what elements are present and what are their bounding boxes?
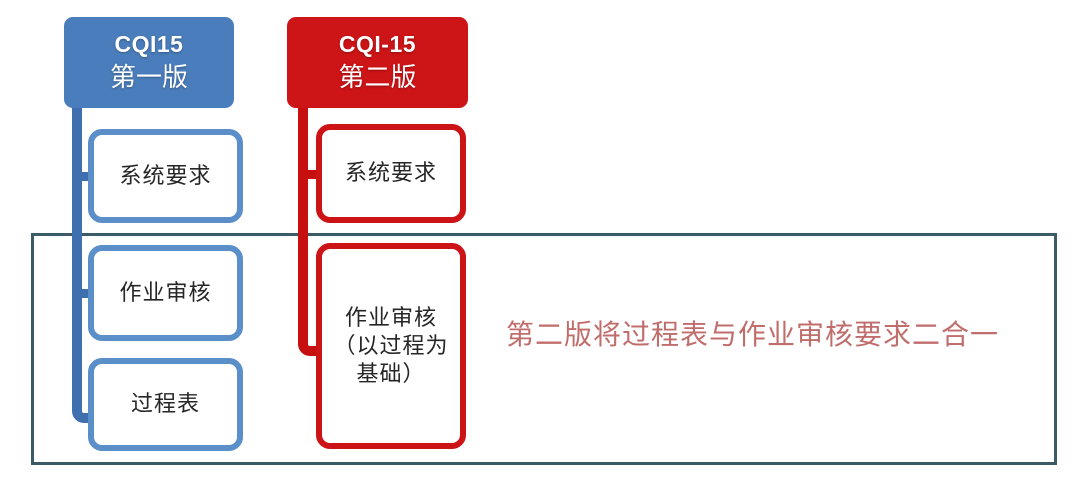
node-label-version-2-node-1: 系统要求 bbox=[345, 159, 437, 187]
node-label-version-1-node-2: 作业审核 bbox=[119, 279, 211, 307]
node-box-version-1-job-audit[interactable]: 作业审核 bbox=[88, 245, 243, 341]
merge-annotation-text: 第二版将过程表与作业审核要求二合一 bbox=[506, 313, 999, 353]
node-box-version-2-system-requirements[interactable]: 系统要求 bbox=[316, 124, 466, 223]
diagram-canvas: CQI15 第一版 系统要求 作业审核 过程表 CQI-15 第二版 系统要求 … bbox=[0, 0, 1080, 494]
node-label-version-1-node-1: 系统要求 bbox=[119, 162, 211, 190]
node-label-version-1-node-3: 过程表 bbox=[131, 390, 200, 418]
node-box-version-2-job-audit-process-based[interactable]: 作业审核（以过程为基础） bbox=[316, 243, 466, 449]
header-edition-version-2: 第二版 bbox=[338, 61, 416, 95]
header-box-version-2[interactable]: CQI-15 第二版 bbox=[287, 17, 468, 108]
header-code-version-2: CQI-15 bbox=[339, 30, 416, 59]
header-code-version-1: CQI15 bbox=[115, 30, 184, 59]
node-label-version-2-node-2: 作业审核（以过程为基础） bbox=[322, 304, 460, 388]
node-box-version-1-system-requirements[interactable]: 系统要求 bbox=[88, 129, 243, 223]
header-edition-version-1: 第一版 bbox=[110, 61, 188, 95]
header-box-version-1[interactable]: CQI15 第一版 bbox=[64, 17, 234, 108]
node-box-version-1-process-table[interactable]: 过程表 bbox=[88, 358, 243, 451]
